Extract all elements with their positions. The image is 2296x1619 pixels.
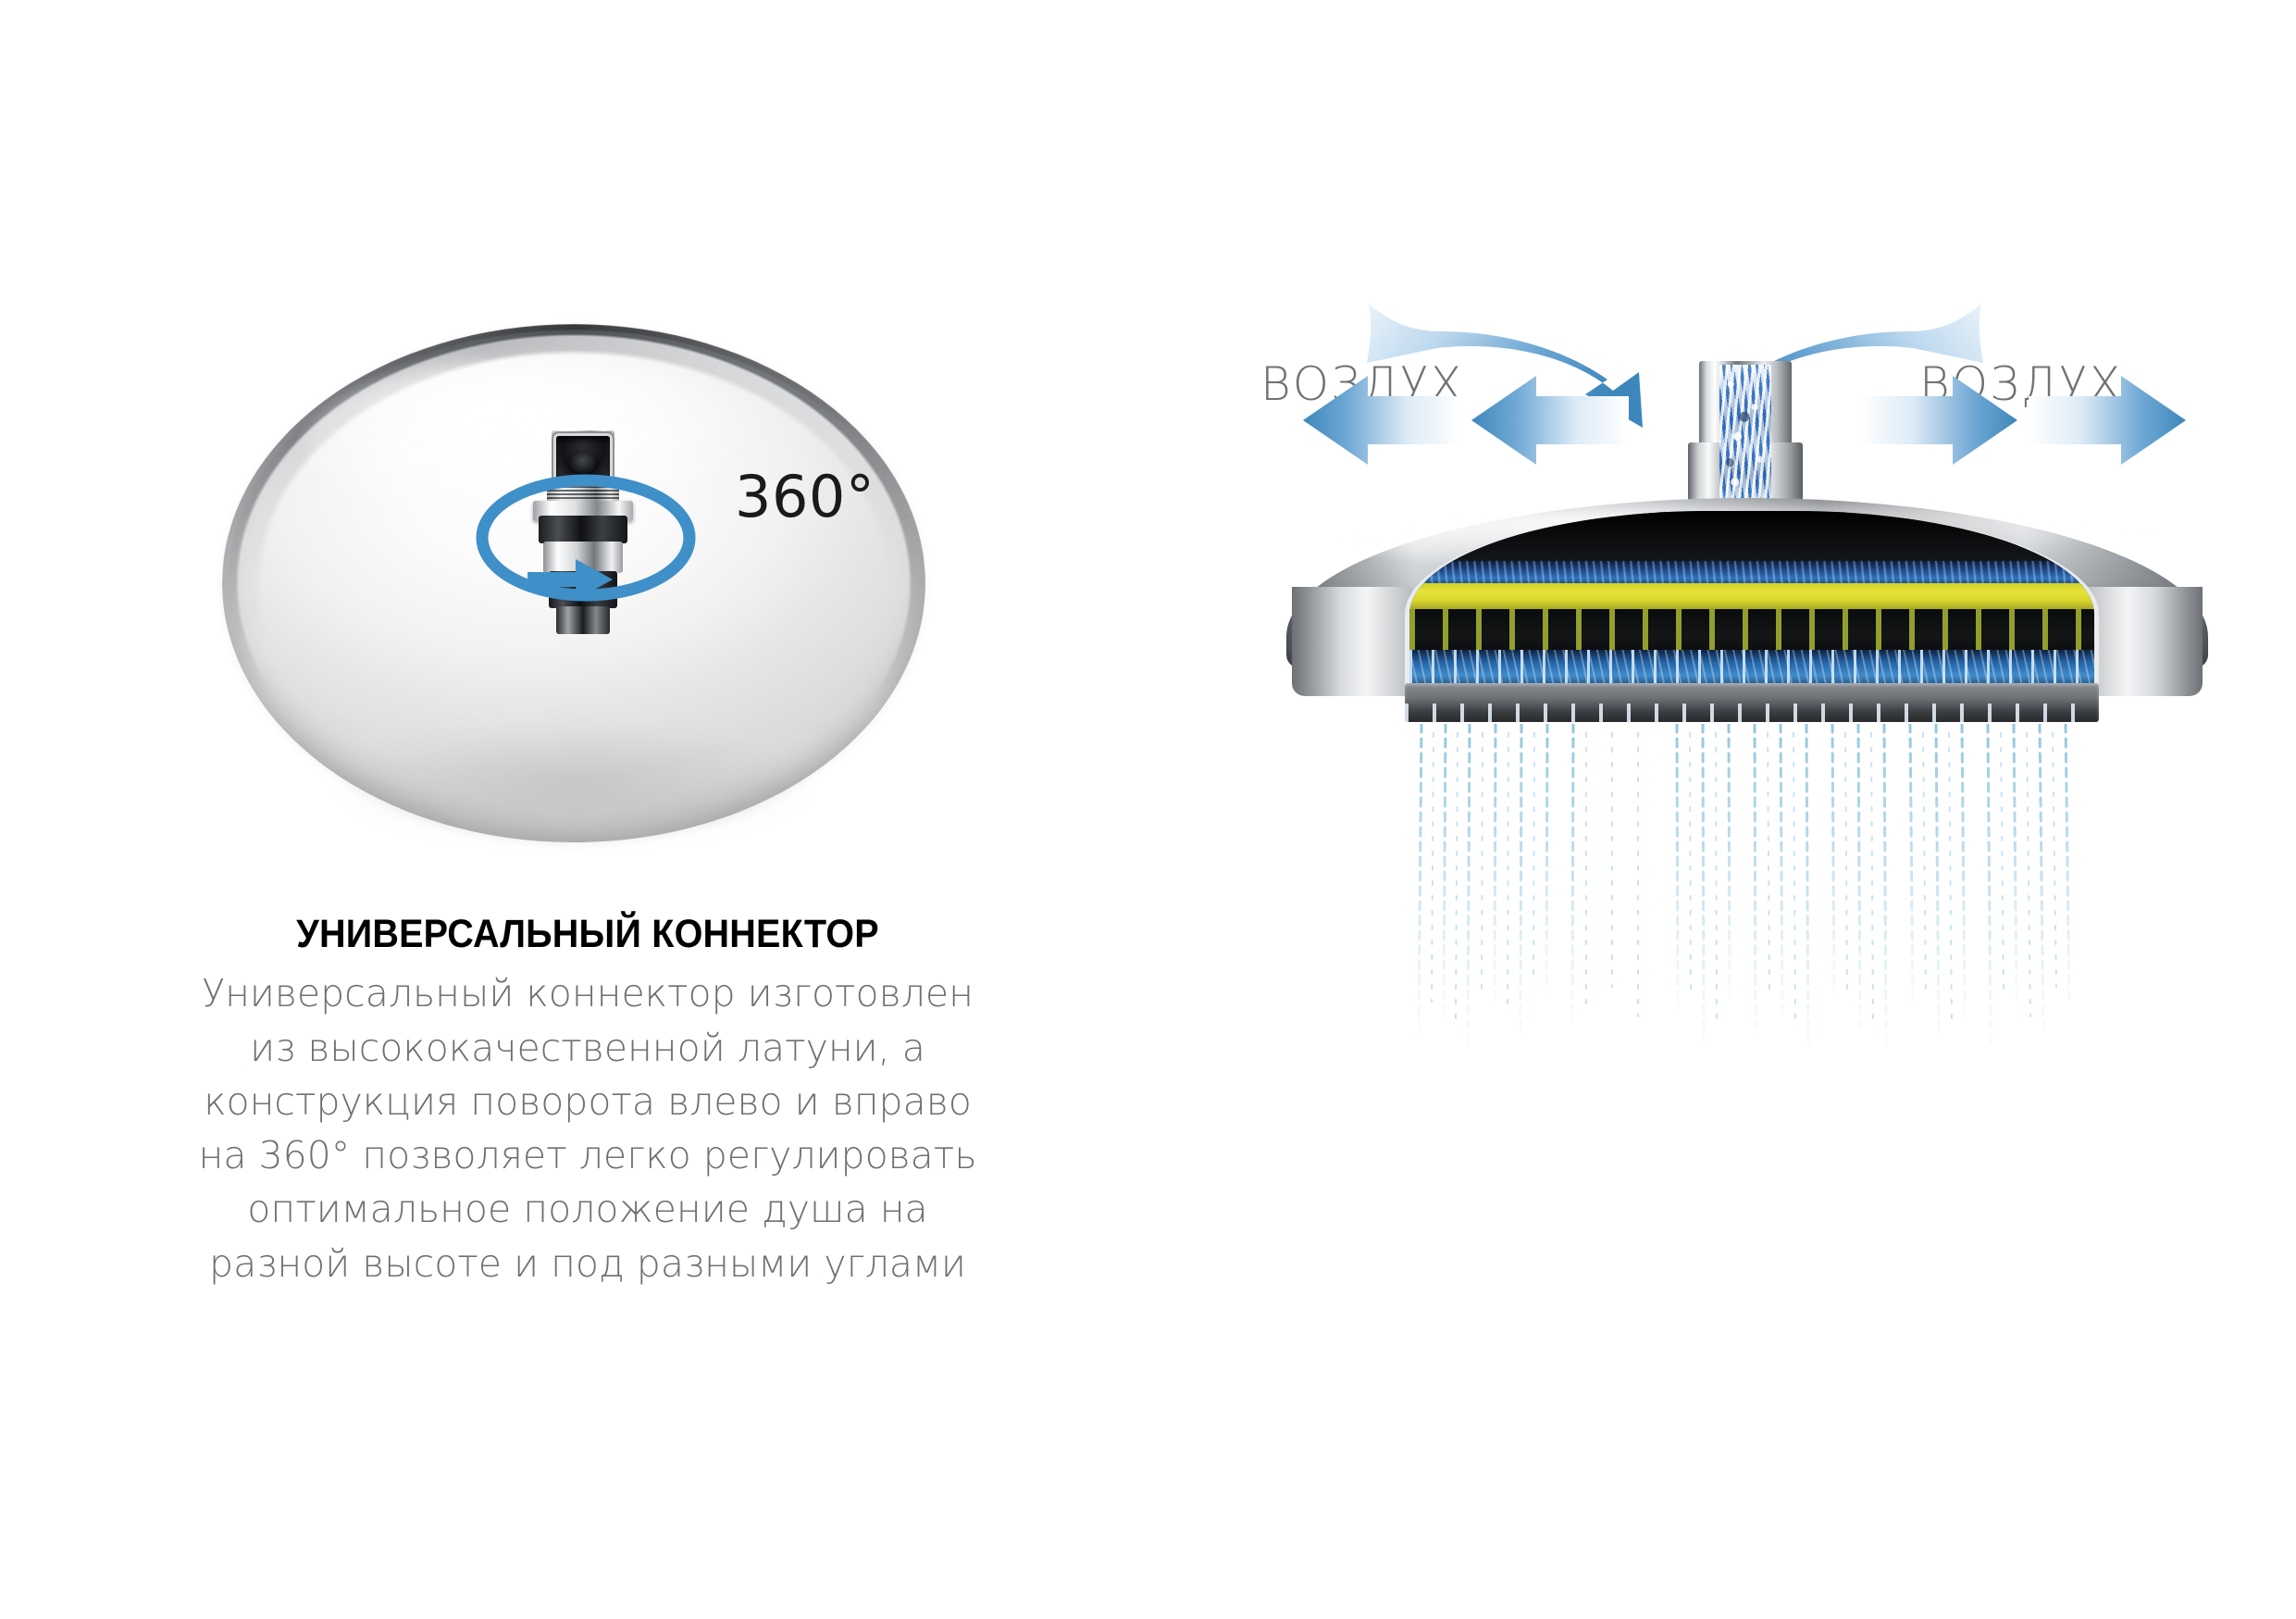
interior-chamber-dark: [1409, 511, 2094, 568]
body-line: из высококачественной латуни, а: [190, 1021, 986, 1075]
shower-head-cutaway-body: [1286, 498, 2208, 729]
body-line: на 360° позволяет легко регулировать: [190, 1128, 986, 1182]
water-spray-jets: [1407, 724, 2091, 1057]
rotation-ring-arrow-icon: [470, 459, 701, 616]
body-line: разной высоте и под разными углами: [190, 1237, 986, 1290]
rotation-degree-label: 360°: [735, 463, 875, 530]
shower-head-disc: 360°: [222, 324, 925, 842]
body-line: оптимальное положение душа на: [190, 1182, 986, 1236]
figure-air-injection-cutaway: ВОЗДУХ ВОЗДУХ: [1231, 167, 2258, 907]
panel-air-injection: ВОЗДУХ ВОЗДУХ: [1212, 0, 2296, 1619]
head-skirt-right: [2082, 587, 2203, 696]
aeration-diffuser-band: [1409, 583, 2094, 611]
body-line: Универсальный коннектор изготовлен: [190, 966, 986, 1020]
body-universal-connector: Универсальный коннектор изготовлен из вы…: [190, 966, 986, 1289]
infographic-page: 360° УНИВЕРСАЛЬНЫЙ КОННЕКТОР Универсальн…: [0, 0, 2296, 1619]
nozzle-row: [1405, 704, 2099, 722]
panel-universal-connector: 360° УНИВЕРСАЛЬНЫЙ КОННЕКТОР Универсальн…: [0, 0, 1212, 1619]
body-line: конструкция поворота влево и вправо: [190, 1075, 986, 1128]
heading-universal-connector: УНИВЕРСАЛЬНЫЙ КОННЕКТОР: [221, 912, 953, 957]
disc-bottom-shadow: [333, 722, 814, 833]
head-skirt-left: [1292, 587, 1412, 696]
figure-shower-head-top-view: 360°: [204, 305, 1018, 861]
cutaway-interior: [1405, 511, 2099, 694]
nozzle-face-plate: [1405, 683, 2099, 722]
text-block-universal-connector: УНИВЕРСАЛЬНЫЙ КОННЕКТОР Универсальный ко…: [190, 912, 986, 1290]
